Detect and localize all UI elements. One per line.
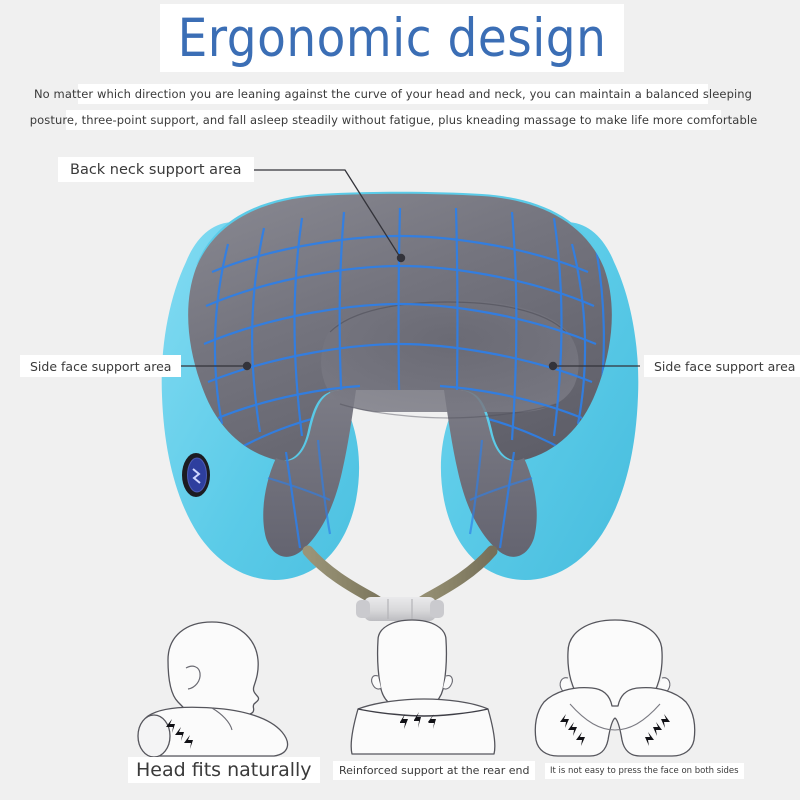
caption-reinforced-support: Reinforced support at the rear end xyxy=(333,761,535,780)
product-mesh-lines xyxy=(204,208,604,450)
product-controller[interactable] xyxy=(356,597,444,621)
power-icon xyxy=(193,469,200,483)
product-dish-lower-line xyxy=(340,404,556,418)
callout-side-face-right: Side face support area xyxy=(644,355,800,377)
leader-dot-right xyxy=(549,362,557,370)
subtitle-line-2: posture, three-point support, and fall a… xyxy=(66,110,721,130)
product-shell-right xyxy=(441,222,638,580)
product-inner-arm-right xyxy=(444,390,537,557)
leader-dot-back-neck xyxy=(397,254,405,262)
pressure-arrows-top xyxy=(560,714,670,746)
product-mesh-lines-arms xyxy=(268,440,532,548)
caption-not-easy-to-press-face: It is not easy to press the face on both… xyxy=(545,763,744,779)
product-inner-arm-left xyxy=(263,390,356,557)
product-inner-cushion xyxy=(188,194,612,461)
infographic-canvas: Ergonomic design No matter which directi… xyxy=(0,0,800,800)
callout-back-neck-support: Back neck support area xyxy=(58,157,254,182)
product-strap-left xyxy=(308,551,390,612)
product-inner-dish xyxy=(321,300,579,412)
caption-head-fits-naturally: Head fits naturally xyxy=(128,757,320,783)
page-title: Ergonomic design xyxy=(178,12,607,65)
product-shell-left xyxy=(162,222,359,580)
leader-dot-left xyxy=(243,362,251,370)
product-shell-top xyxy=(196,192,604,266)
pressure-arrows-rear xyxy=(400,712,436,729)
product-dish-edge-line xyxy=(330,302,566,332)
product-strap-right xyxy=(410,551,492,612)
leader-line-back-neck xyxy=(232,170,400,257)
pressure-arrows-side xyxy=(166,719,193,749)
callout-side-face-left: Side face support area xyxy=(20,355,181,377)
subtitle-line-1: No matter which direction you are leanin… xyxy=(78,84,708,104)
product-control-button[interactable] xyxy=(182,453,210,497)
page-title-band: Ergonomic design xyxy=(160,4,624,72)
